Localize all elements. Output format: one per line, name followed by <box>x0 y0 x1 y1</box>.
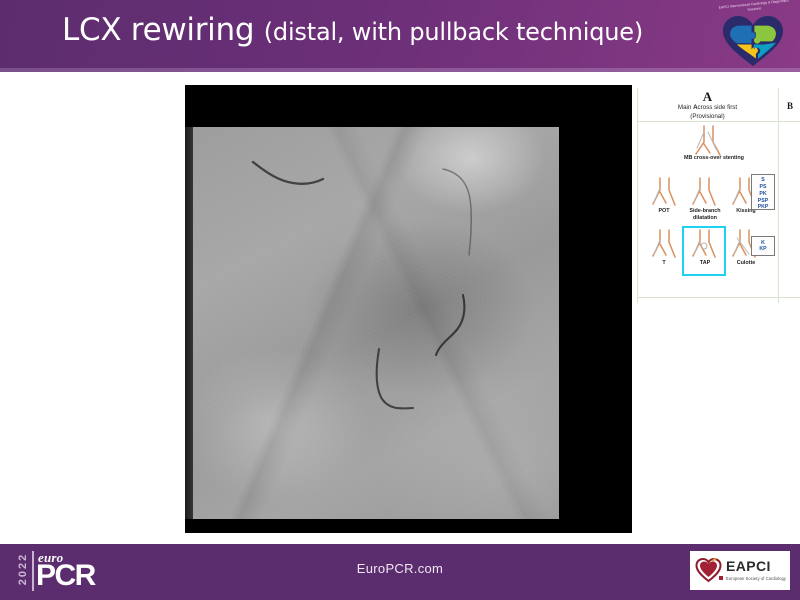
diagram-caption-side-branch-dilatation: Side-branch dilatation <box>683 208 727 222</box>
eapci-subtitle: European Society of Cardiology <box>726 576 786 581</box>
code-psp: PSP <box>752 198 774 205</box>
diagram-caption-culotte: Culotte <box>723 260 769 267</box>
code-pkp: PKP <box>752 204 774 211</box>
page-title: LCX rewiring (distal, with pullback tech… <box>62 13 702 47</box>
diagram-code-box-provisional: S PS PK PSP PKP <box>751 174 775 210</box>
code-s: S <box>752 177 774 184</box>
angiogram-guidewires <box>193 127 559 519</box>
code-kp: KP <box>752 246 774 253</box>
code-k: K <box>752 240 774 247</box>
diagram-caption-crossover: MB cross-over stenting <box>659 155 769 162</box>
eapci-heart-icon <box>695 557 722 583</box>
page-title-main: LCX rewiring <box>62 12 254 48</box>
puzzle-heart-logo: EAPCI Interventional Cardiology & Diagno… <box>714 1 792 71</box>
eapci-logo: EAPCI European Society of Cardiology <box>690 551 790 590</box>
eapci-name: EAPCI <box>726 558 771 574</box>
europcr-year: 2022 <box>17 548 29 590</box>
europcr-pcr-word: PCR <box>36 561 95 591</box>
diagram-caption-t: T <box>641 260 687 267</box>
angiogram-frame <box>185 85 632 533</box>
bifurcation-algorithm-diagram: A B Main Across side first (Provisional) <box>637 88 800 303</box>
coronary-angiogram-fluoroscopy <box>193 127 559 519</box>
diagram-code-box-two-stent: K KP <box>751 236 775 256</box>
europcr-divider <box>32 551 34 591</box>
diagram-caption-pot: POT <box>641 208 687 215</box>
page-title-subtitle: (distal, with pullback technique) <box>264 18 643 46</box>
eapci-bullet <box>719 576 723 580</box>
tap-highlight-box <box>682 226 726 276</box>
slide-footer: EuroPCR.com <box>0 544 800 600</box>
header-underline <box>0 68 800 72</box>
footer-website: EuroPCR.com <box>0 561 800 576</box>
code-ps: PS <box>752 184 774 191</box>
europcr-logo: 2022 euro PCR <box>10 549 102 593</box>
slide-header: LCX rewiring (distal, with pullback tech… <box>0 0 800 72</box>
code-pk: PK <box>752 191 774 198</box>
